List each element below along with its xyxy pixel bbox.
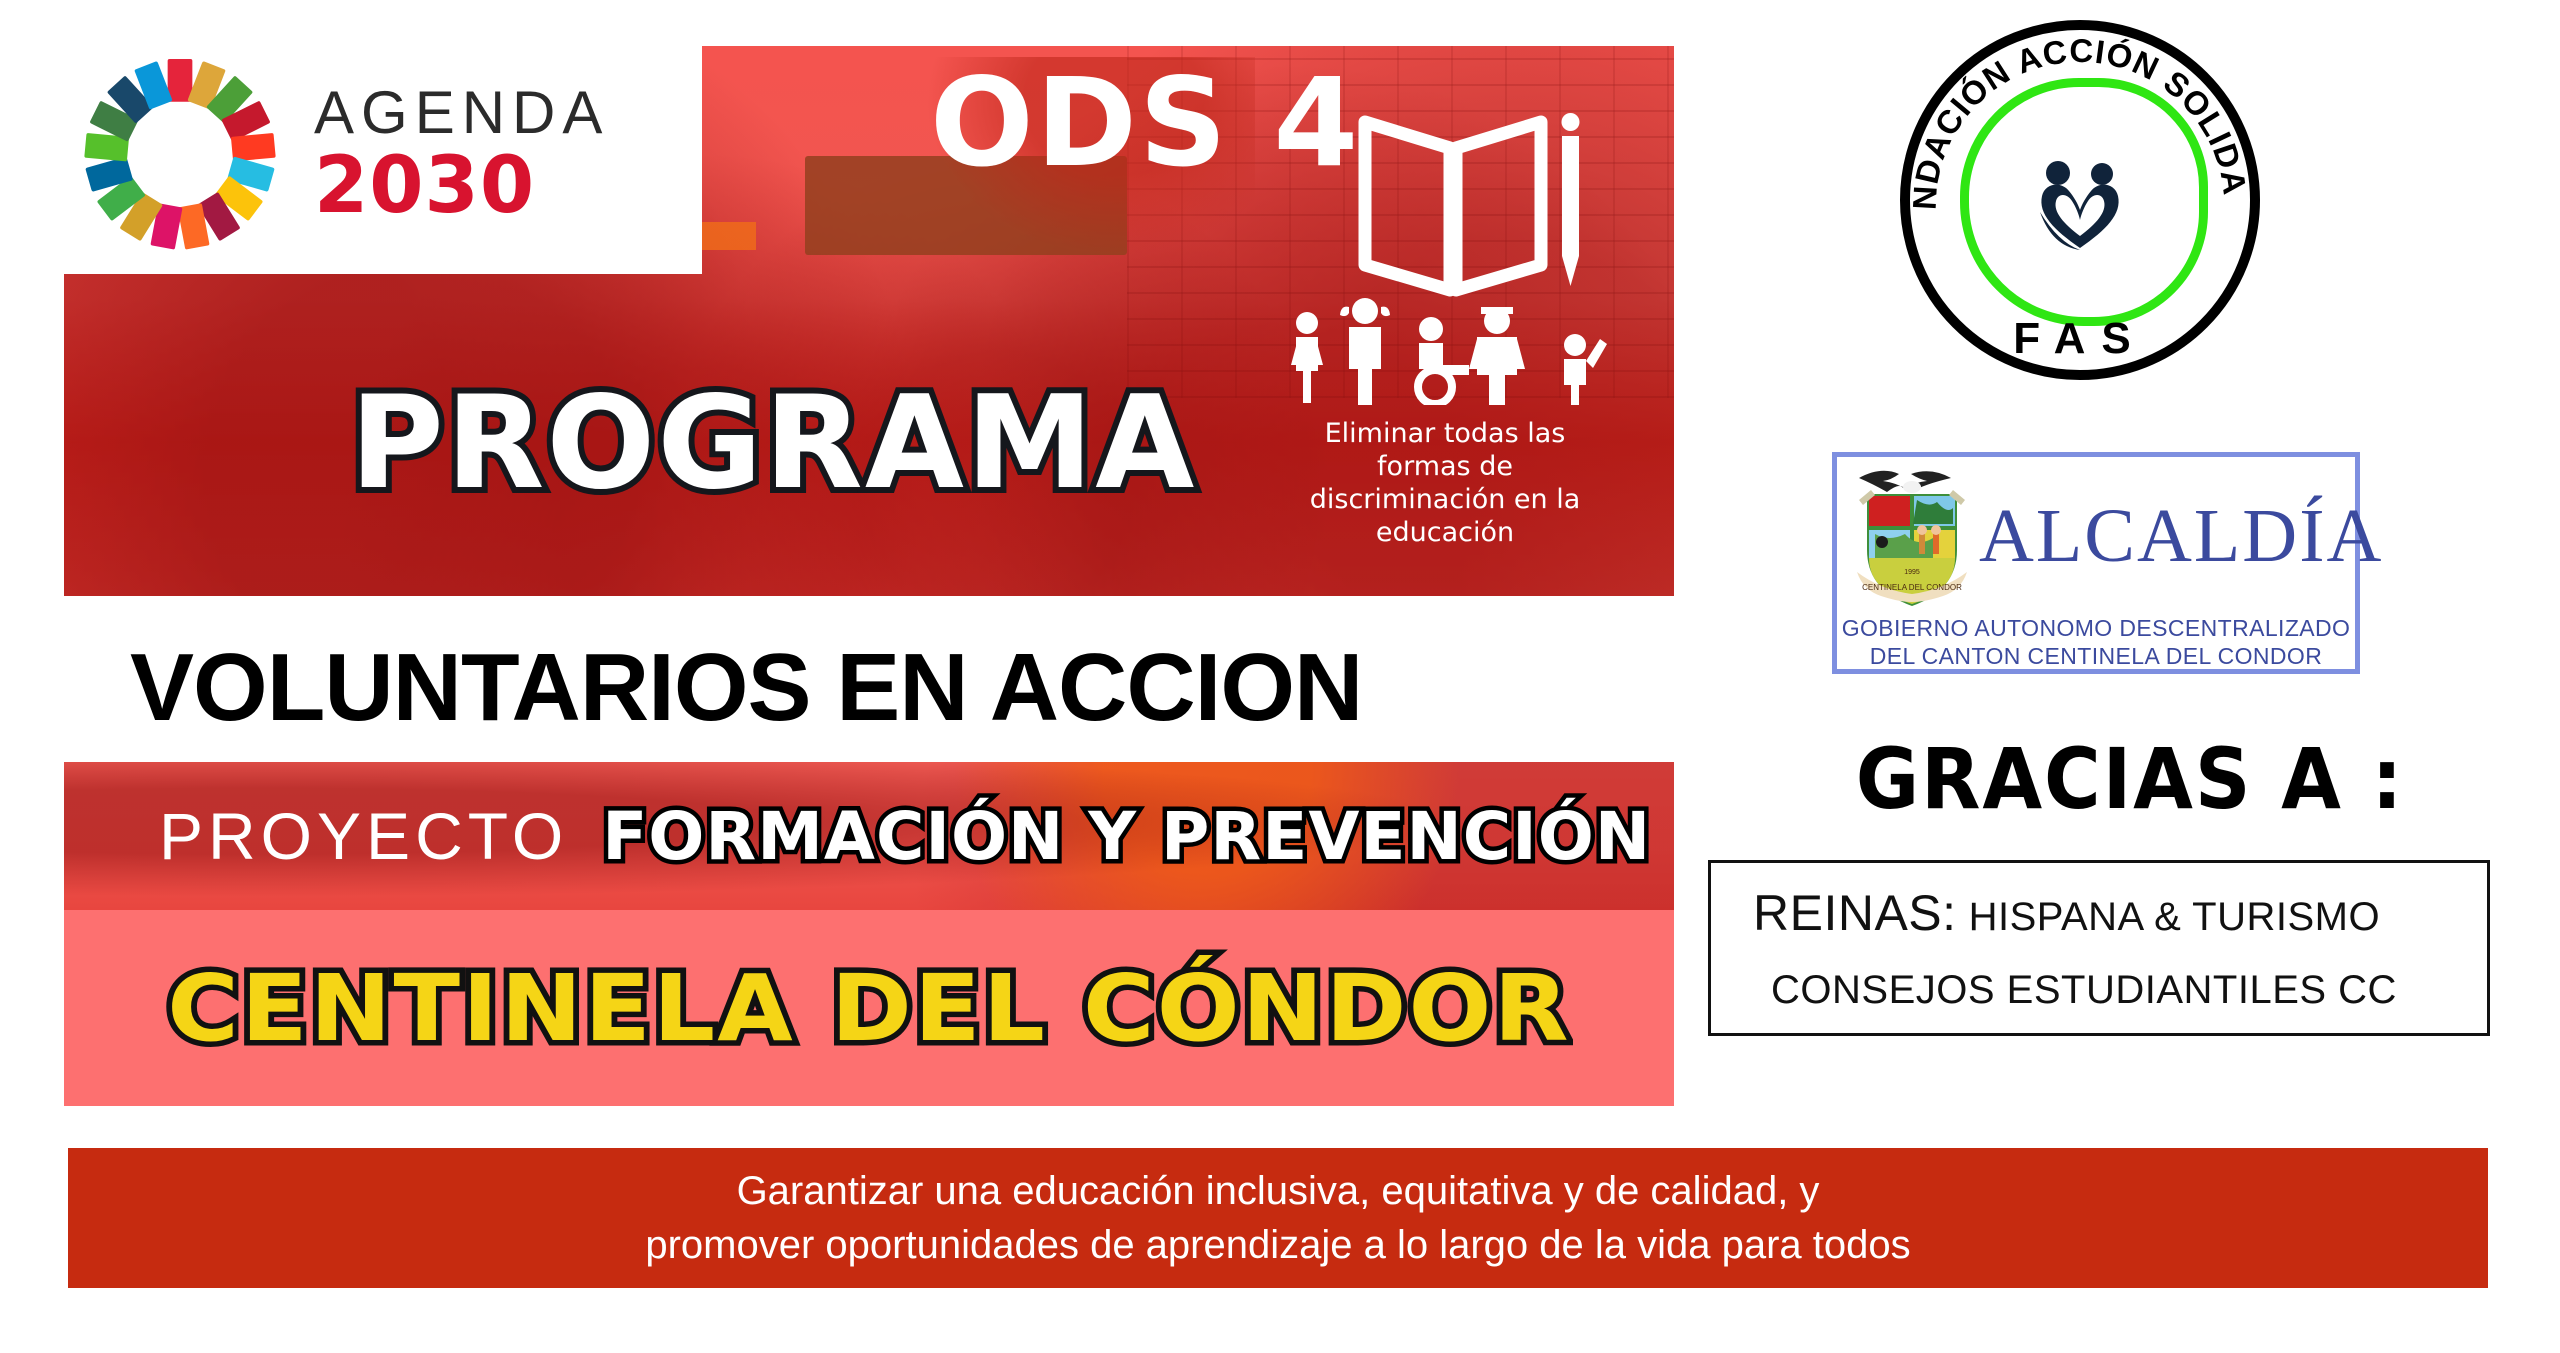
inclusive-people-pictogram-icon (1285, 285, 1615, 405)
fas-foundation-seal-logo: FUNDACIÓN ACCIÓN SOLIDARIA Zamora Chinch… (1900, 20, 2260, 380)
seal-acronym: FAS (1900, 314, 2260, 364)
agenda-year: 2030 (314, 147, 609, 225)
page-title-programa: PROGRAMA (350, 380, 1196, 508)
proyecto-label: PROYECTO (159, 798, 568, 874)
alcaldia-subtitle: GOBIERNO AUTONOMO DESCENTRALIZADO DEL CA… (1837, 615, 2355, 670)
sponsors-line-2: CONSEJOS ESTUDIANTILES CC (1771, 968, 2487, 1013)
reinas-value: HISPANA & TURISMO (1969, 895, 2381, 940)
right-sponsor-column: FUNDACIÓN ACCIÓN SOLIDARIA Zamora Chinch… (1700, 0, 2560, 1353)
condor-coat-of-arms-icon: CENTINELA DEL CONDOR 1995 (1851, 460, 1973, 612)
agenda-wordmark: AGENDA 2030 (314, 83, 609, 225)
ods-caption-text: Eliminar todas las formas de discriminac… (1275, 418, 1615, 550)
svg-text:1995: 1995 (1904, 569, 1920, 576)
centinela-title: CENTINELA DEL CÓNDOR (167, 955, 1570, 1062)
gracias-heading: GRACIAS A : (1836, 730, 2425, 828)
reinas-label: REINAS: (1753, 884, 1957, 942)
sponsors-line-1: REINAS: HISPANA & TURISMO (1753, 884, 2487, 942)
alcaldia-subtitle-line-1: GOBIERNO AUTONOMO DESCENTRALIZADO (1837, 615, 2355, 643)
agenda-2030-logo: AGENDA 2030 (62, 34, 702, 274)
alcaldia-subtitle-line-2: DEL CANTON CENTINELA DEL CONDOR (1837, 643, 2355, 671)
alcaldia-row: CENTINELA DEL CONDOR 1995 ALCALDÍA (1837, 457, 2355, 615)
alcaldia-title: ALCALDÍA (1979, 498, 2383, 574)
subtitle-voluntarios: VOLUNTARIOS EN ACCION (130, 640, 1362, 736)
two-people-forming-heart-icon (2028, 160, 2132, 256)
goal-line-1: Garantizar una educación inclusiva, equi… (737, 1164, 1820, 1218)
sponsors-box: REINAS: HISPANA & TURISMO CONSEJOS ESTUD… (1708, 860, 2490, 1036)
proyecto-band: PROYECTO FORMACIÓN Y PREVENCIÓN (64, 762, 1674, 910)
centinela-band: CENTINELA DEL CÓNDOR (64, 910, 1674, 1106)
sdg-color-wheel-icon (85, 59, 275, 249)
proyecto-name: FORMACIÓN Y PREVENCIÓN (602, 798, 1651, 875)
alcaldia-logo-card: CENTINELA DEL CONDOR 1995 ALCALDÍA GOBIE… (1832, 452, 2360, 674)
svg-text:CENTINELA DEL CONDOR: CENTINELA DEL CONDOR (1862, 583, 1962, 592)
ods-number-label: ODS 4 (930, 62, 1360, 184)
agenda-word: AGENDA (314, 83, 609, 143)
open-book-and-pencil-icon (1355, 100, 1585, 315)
